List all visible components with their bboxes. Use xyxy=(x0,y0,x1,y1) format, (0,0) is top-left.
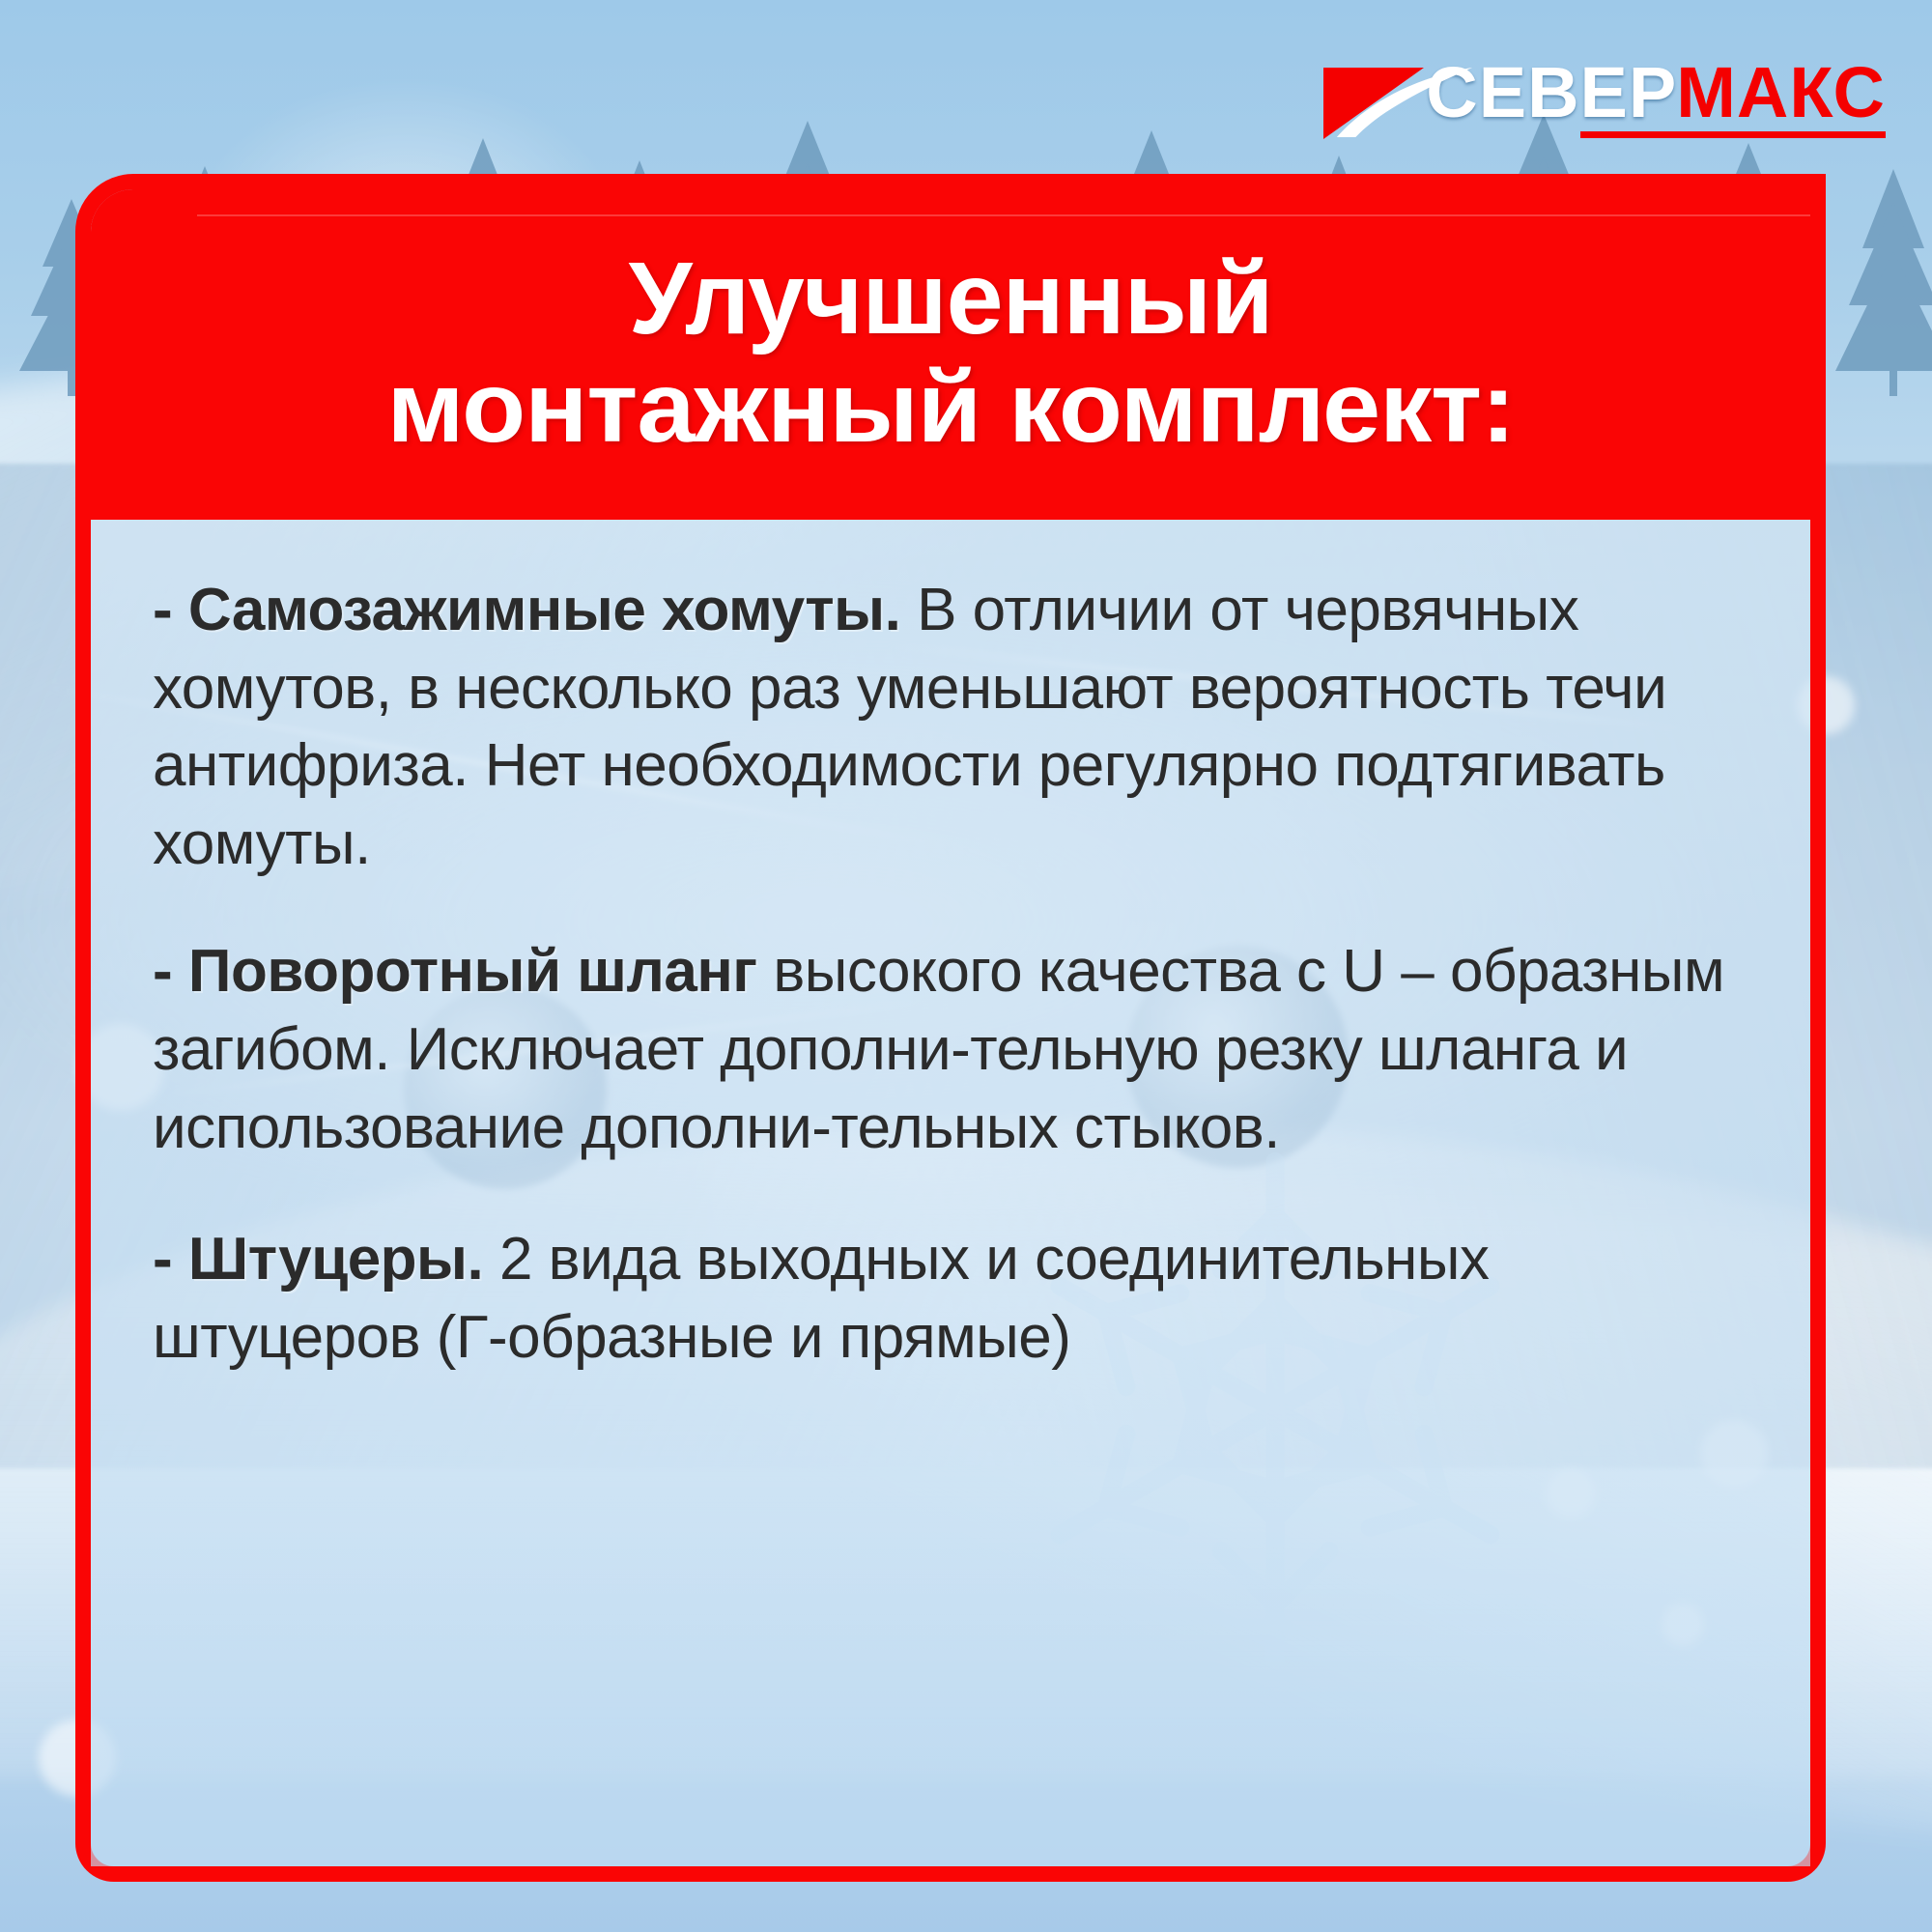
bullet-title: Поворотный шланг xyxy=(188,938,757,1005)
card-header: Улучшенный монтажный комплект: xyxy=(91,189,1810,520)
page-title-line1: Улучшенный xyxy=(629,247,1273,350)
bullet-marker: - xyxy=(153,938,172,1005)
bullet-marker: - xyxy=(153,1226,172,1293)
bullet-title: Штуцеры. xyxy=(188,1226,483,1293)
brand-logo[interactable]: СЕВЕРМАКС xyxy=(1323,60,1886,139)
poster-canvas: СЕВЕРМАКС Улучшенный монтажный комплект:… xyxy=(0,0,1932,1932)
pine-tree-icon xyxy=(1835,169,1932,396)
swoosh-icon xyxy=(1333,64,1478,139)
logo-mark-icon xyxy=(1323,60,1432,139)
card-body: - Самозажимные хомуты. В отличии от черв… xyxy=(91,520,1810,1866)
logo-wordmark: СЕВЕРМАКС xyxy=(1426,60,1886,138)
bullet-marker: - xyxy=(153,577,172,643)
bullet-title: Самозажимные хомуты. xyxy=(188,577,900,643)
page-title-line2: монтажный комплект: xyxy=(386,355,1515,461)
list-item: - Поворотный шланг высокого качества с U… xyxy=(153,933,1768,1167)
logo-word-maks: МАКС xyxy=(1676,52,1886,132)
list-item: - Самозажимные хомуты. В отличии от черв… xyxy=(153,572,1768,883)
list-item: - Штуцеры. 2 вида выходных и соединитель… xyxy=(153,1221,1768,1377)
header-hairline xyxy=(197,214,1810,216)
feature-card: Улучшенный монтажный комплект: - Самозаж… xyxy=(75,174,1826,1882)
logo-underline xyxy=(1580,131,1886,138)
